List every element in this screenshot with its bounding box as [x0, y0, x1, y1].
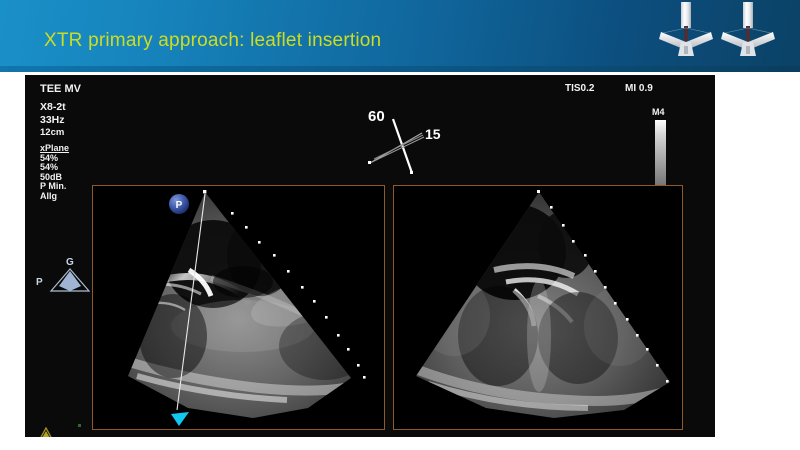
ultrasound-panel-right[interactable]: [393, 185, 683, 430]
mitral-clip-device-icon: [655, 2, 795, 64]
probe-label: X8-2t: [40, 101, 66, 113]
banner-underline: [0, 66, 800, 72]
ultrasound-display: TEE MV X8-2t 33Hz 12cm xPlane 54% 54% 50…: [25, 75, 715, 437]
orientation-left-label: P: [36, 277, 43, 288]
colormap-label: M4: [652, 107, 665, 117]
page-title: XTR primary approach: leaflet insertion: [44, 30, 381, 52]
depth-label: 12cm: [40, 127, 64, 138]
thermal-index-label: TIS0.2: [565, 83, 594, 94]
warning-triangle-icon: [39, 427, 53, 437]
ultrasound-panel-left[interactable]: P: [92, 185, 385, 430]
frame-rate-label: 33Hz: [40, 114, 65, 126]
exam-mode-label: TEE MV: [40, 83, 81, 95]
marker-badge-p-label: P: [176, 200, 183, 211]
xplane-line-4: Allg: [40, 192, 69, 202]
biplane-angle-indicator[interactable]: 60 15: [350, 107, 460, 187]
xplane-settings: xPlane 54% 54% 50dB P Min. Allg: [40, 144, 69, 201]
angle-secondary-value: 15: [425, 126, 441, 142]
status-dot: [78, 424, 81, 427]
orientation-top-label: G: [66, 257, 74, 268]
mechanical-index-label: MI 0.9: [625, 83, 653, 94]
angle-primary-value: 60: [368, 108, 385, 125]
